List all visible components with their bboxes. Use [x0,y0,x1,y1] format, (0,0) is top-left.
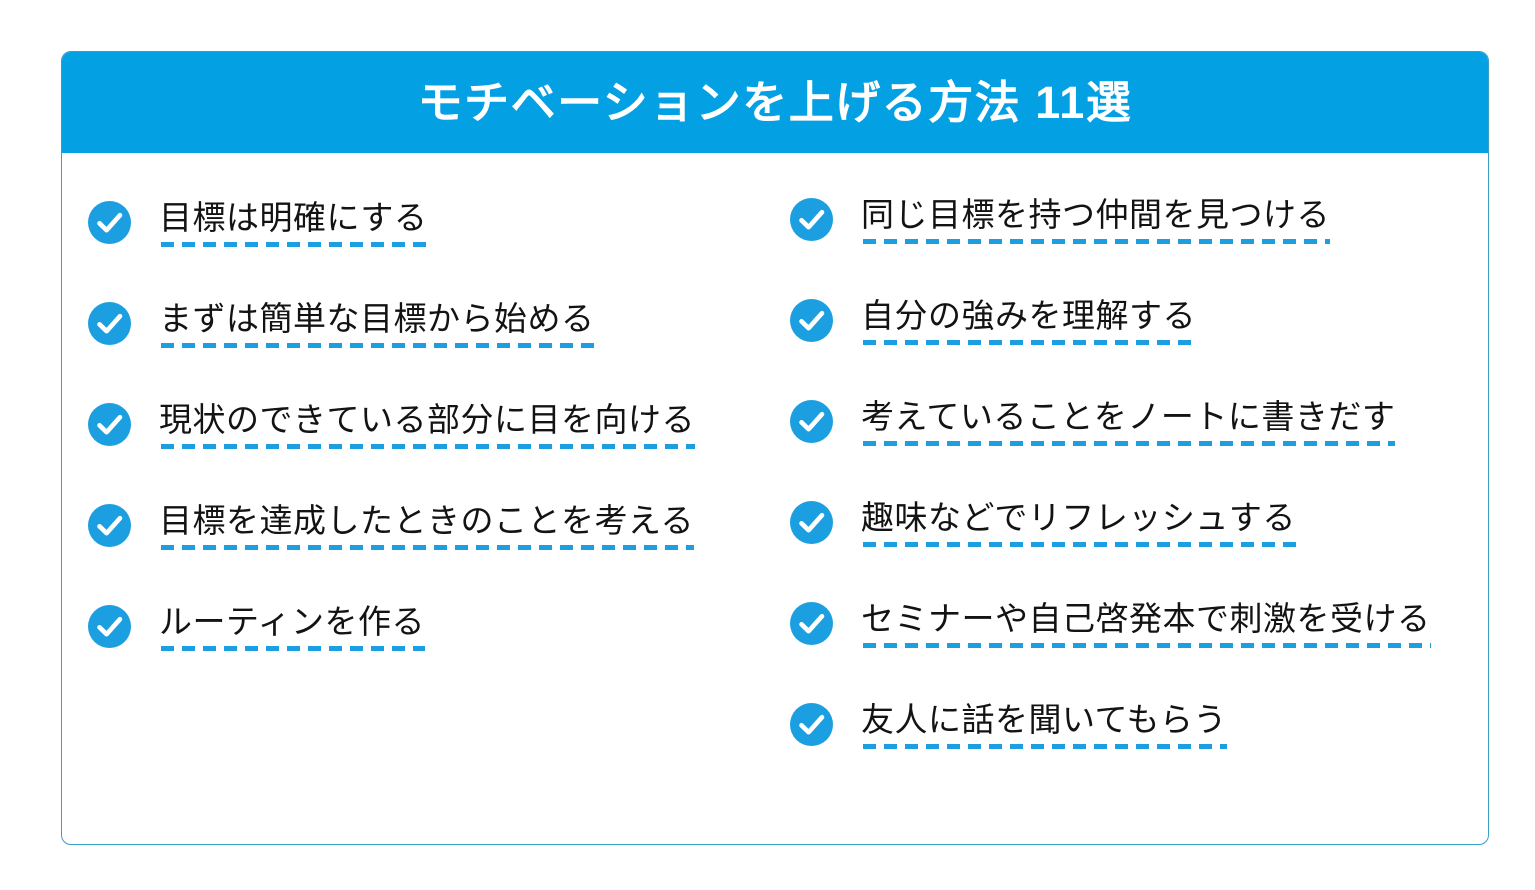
checklist-item-text-wrap: 自分の強みを理解する [861,297,1196,345]
checklist-card: モチベーションを上げる方法 11選 目標は明確にするまずは簡単な目標から始める現… [61,51,1489,845]
dashed-underline [863,340,1196,345]
checklist-item-label: 友人に話を聞いてもらう [861,701,1227,740]
dashed-underline [161,646,425,651]
checklist-item-label: ルーティンを作る [159,603,425,642]
checklist-item: 同じ目標を持つ仲間を見つける [790,153,1480,254]
checklist-item-text-wrap: まずは簡単な目標から始める [159,300,595,348]
checklist-item: 趣味などでリフレッシュする [790,456,1480,557]
dashed-underline [161,444,695,449]
checklist-item: 自分の強みを理解する [790,254,1480,355]
checklist-item-text-wrap: セミナーや自己啓発本で刺激を受ける [861,600,1431,648]
checklist-columns: 目標は明確にするまずは簡単な目標から始める現状のできている部分に目を向ける目標を… [62,153,1488,844]
checklist-item-label: 現状のできている部分に目を向ける [159,401,695,440]
checklist-item-label: 趣味などでリフレッシュする [861,499,1296,538]
check-circle-icon [790,198,833,241]
checklist-item: まずは簡単な目標から始める [88,254,778,355]
checklist-item: セミナーや自己啓発本で刺激を受ける [790,557,1480,658]
checklist-item-text-wrap: 同じ目標を持つ仲間を見つける [861,196,1330,244]
checklist-item: 現状のできている部分に目を向ける [88,355,778,456]
checklist-column-right: 同じ目標を持つ仲間を見つける自分の強みを理解する考えていることをノートに書きだす… [790,153,1480,759]
check-circle-icon [88,302,131,345]
checklist-item-label: 目標は明確にする [159,199,427,238]
check-circle-icon [790,299,833,342]
checklist-item: 友人に話を聞いてもらう [790,658,1480,759]
dashed-underline [863,744,1227,749]
page-title: モチベーションを上げる方法 11選 [418,80,1133,125]
checklist-item: 目標は明確にする [88,153,778,254]
checklist-column-left: 目標は明確にするまずは簡単な目標から始める現状のできている部分に目を向ける目標を… [88,153,778,658]
checklist-item-label: 自分の強みを理解する [861,297,1196,336]
check-circle-icon [88,403,131,446]
check-circle-icon [88,605,131,648]
check-circle-icon [790,703,833,746]
check-circle-icon [790,602,833,645]
checklist-item: 考えていることをノートに書きだす [790,355,1480,456]
check-circle-icon [790,400,833,443]
checklist-item-text-wrap: 目標は明確にする [159,199,427,247]
checklist-item-label: 目標を達成したときのことを考える [159,502,694,541]
checklist-item-text-wrap: 趣味などでリフレッシュする [861,499,1296,547]
check-circle-icon [88,201,131,244]
checklist-item-text-wrap: 友人に話を聞いてもらう [861,701,1227,749]
checklist-item-text-wrap: 考えていることをノートに書きだす [861,398,1395,446]
dashed-underline [863,441,1395,446]
dashed-underline [161,545,694,550]
dashed-underline [863,542,1296,547]
check-circle-icon [88,504,131,547]
checklist-item-text-wrap: 現状のできている部分に目を向ける [159,401,695,449]
checklist-item-label: セミナーや自己啓発本で刺激を受ける [861,600,1431,639]
checklist-item-label: 考えていることをノートに書きだす [861,398,1395,437]
card-header: モチベーションを上げる方法 11選 [62,52,1488,153]
dashed-underline [161,343,595,348]
checklist-item: ルーティンを作る [88,557,778,658]
checklist-item: 目標を達成したときのことを考える [88,456,778,557]
checklist-item-text-wrap: 目標を達成したときのことを考える [159,502,694,550]
dashed-underline [863,239,1330,244]
check-circle-icon [790,501,833,544]
checklist-item-label: まずは簡単な目標から始める [159,300,595,339]
dashed-underline [161,242,427,247]
dashed-underline [863,643,1431,648]
checklist-item-text-wrap: ルーティンを作る [159,603,425,651]
checklist-item-label: 同じ目標を持つ仲間を見つける [861,196,1330,235]
